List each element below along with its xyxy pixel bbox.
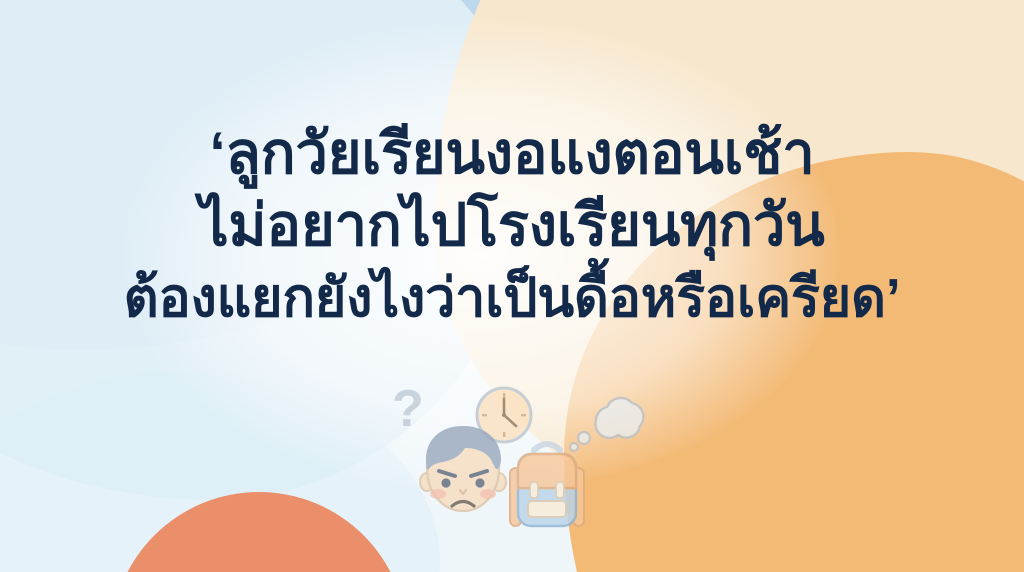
poster-canvas: ‘ลูกวัยเรียนงอแงตอนเช้า ไม่อยากไปโรงเรีย… bbox=[0, 0, 1024, 572]
headline-block: ‘ลูกวัยเรียนงอแงตอนเช้า ไม่อยากไปโรงเรีย… bbox=[0, 118, 1024, 334]
child-face-icon bbox=[420, 426, 506, 511]
svg-text:?: ? bbox=[392, 382, 424, 438]
headline-line-3: ต้องแยกยังไงว่าเป็นดื้อหรือเครียด’ bbox=[0, 262, 1024, 334]
thought-bubble-icon bbox=[570, 398, 643, 451]
backpack-icon bbox=[510, 444, 584, 526]
headline-line-1: ‘ลูกวัยเรียนงอแงตอนเช้า bbox=[0, 118, 1024, 190]
morning-school-reluctance-illustration: ? bbox=[384, 382, 650, 542]
headline-line-2: ไม่อยากไปโรงเรียนทุกวัน bbox=[0, 190, 1024, 262]
salmon-circle-bottom-left-shape bbox=[111, 492, 407, 572]
pale-wash-bottom-shape bbox=[0, 372, 440, 572]
question-mark-icon: ? bbox=[392, 382, 424, 438]
